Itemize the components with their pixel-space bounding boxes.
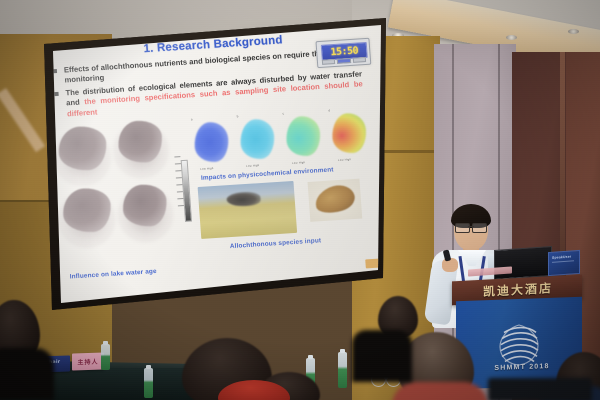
water-bottle-3-cap — [308, 355, 313, 359]
globe-stripes-logo — [498, 321, 540, 368]
heatmap-c-label: c — [282, 111, 284, 115]
timer-button-h — [352, 57, 366, 63]
heatmap-b-label: b — [237, 114, 239, 118]
presenter-glasses-icon — [454, 223, 488, 231]
timer-button-s — [322, 59, 336, 65]
heatmap-a-ticks: Low High — [200, 167, 213, 171]
caption-species-input: Allochthonous species input — [230, 237, 322, 250]
wall-light-reflection — [0, 88, 45, 152]
heatmap-c: c Low High — [283, 111, 328, 160]
water-bottle-2-cap — [146, 365, 151, 369]
heatmap-d-label: d — [328, 108, 330, 112]
ceiling-light-2 — [506, 35, 517, 40]
heatmap-a-body — [193, 121, 230, 163]
audience-body-left — [0, 348, 54, 400]
caption-lake-water-age: Influence on lake water age — [69, 268, 156, 281]
laptop-lid — [494, 246, 552, 280]
heatmap-c-ticks: Low High — [292, 161, 305, 165]
heatmap-c-body — [285, 115, 322, 157]
timer-digits: 15:50 — [330, 45, 358, 58]
laptop-screen-label: SpeakUser — [552, 254, 571, 259]
audience-body-right-1 — [392, 382, 488, 400]
water-bottle-4 — [338, 352, 347, 388]
water-bottle-2 — [144, 368, 153, 398]
presentation-slide: 1. Research Background Effects of alloch… — [40, 18, 388, 310]
heatmap-a-label: a — [191, 117, 193, 121]
lake-water-age-maps — [49, 118, 189, 266]
countdown-timer: 15:50 — [315, 38, 371, 68]
photo-insect-specimen — [308, 179, 363, 222]
heatmap-d-ticks: Low High — [338, 158, 351, 162]
heatmap-b: b Low High — [237, 114, 282, 163]
av-equipment-box — [488, 378, 592, 400]
conference-photo: 1. Research Background Effects of alloch… — [0, 0, 600, 400]
heatmap-b-body — [239, 118, 276, 160]
laptop-screen[interactable]: SpeakUser — [548, 250, 580, 276]
timer-button-min — [337, 58, 351, 64]
water-bottle-1 — [101, 344, 110, 370]
heatmap-b-ticks: Low High — [246, 164, 259, 168]
photo-field-algae — [198, 181, 298, 239]
heatmap-d-body — [331, 112, 368, 154]
water-bottle-4-cap — [340, 349, 345, 353]
heatmap-d: d Low High — [328, 108, 373, 157]
slide-figures: a Low High b Low High c Low High — [45, 103, 388, 292]
water-bottle-1-cap — [103, 341, 108, 345]
physicochemical-heatmaps: a Low High b Low High c Low High — [190, 103, 380, 173]
name-card-host: 主持人 — [72, 352, 104, 370]
name-card-host-label: 主持人 — [72, 352, 104, 366]
audience-body-right-2 — [352, 330, 412, 382]
ceiling-light-3 — [568, 29, 579, 34]
heatmap-a: a Low High — [191, 117, 236, 166]
